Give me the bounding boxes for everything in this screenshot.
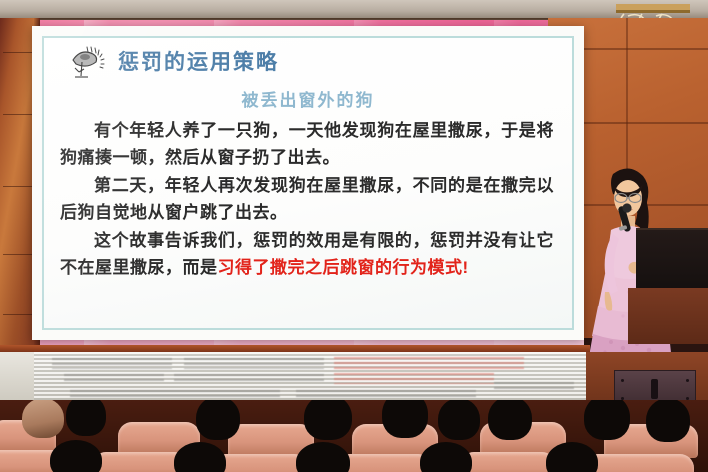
audience-seat: [584, 454, 694, 472]
audience-head: [584, 400, 630, 440]
stage-lip: [0, 345, 590, 352]
slide-title: 惩罚的运用策略: [118, 46, 279, 76]
paragraph-3-run-exclaim: !: [463, 258, 469, 277]
stage-desk: [628, 288, 708, 344]
audience-head: [438, 400, 480, 440]
projection-screen: 惩罚的运用策略 被丢出窗外的狗 有个年轻人养了一只狗，一天他发现狗在屋里撒尿，于…: [32, 26, 584, 340]
slide-header: 惩罚的运用策略: [44, 38, 572, 84]
audience-head: [420, 442, 472, 472]
audience-head: [296, 442, 350, 472]
audience-head: [196, 400, 240, 440]
slide-content: 惩罚的运用策略 被丢出窗外的狗 有个年轻人养了一只狗，一天他发现狗在屋里撒尿，于…: [42, 36, 574, 330]
audience-seat: [336, 454, 432, 472]
audience-head: [304, 400, 352, 440]
slide-paragraph-2: 第二天，年轻人再次发现狗在屋里撒尿，不同的是在撒完以后狗自觉地从窗户跳了出去。: [60, 172, 554, 226]
slide-body: 有个年轻人养了一只狗，一天他发现狗在屋里撒尿，于是将狗痛揍一顿，然后从窗子扔了出…: [44, 117, 572, 281]
audience-head: [646, 400, 690, 442]
slide-paragraph-3: 这个故事告诉我们，惩罚的效用是有限的，惩罚并没有让它不在屋里撒尿，而是习得了撒完…: [60, 227, 554, 281]
audience-area: [0, 400, 708, 472]
audience-head: [382, 400, 428, 438]
podium-dark-panel: [636, 228, 708, 290]
audience-head: [50, 440, 102, 472]
paragraph-3-run-highlight: 习得了撒完之后跳窗的行为模式: [218, 258, 463, 277]
desk-lamp-icon: [66, 44, 108, 84]
audience-head: [546, 442, 598, 472]
presentation-photo-scene: 惩罚的运用策略 被丢出窗外的狗 有个年轻人养了一只狗，一天他发现狗在屋里撒尿，于…: [0, 0, 708, 472]
audience-head: [66, 400, 106, 436]
audience-seat: [212, 454, 308, 472]
slide-paragraph-1: 有个年轻人养了一只狗，一天他发现狗在屋里撒尿，于是将狗痛揍一顿，然后从窗子扔了出…: [60, 117, 554, 171]
audience-head: [22, 400, 64, 438]
slide-subtitle: 被丢出窗外的狗: [44, 86, 572, 111]
audience-head: [488, 400, 532, 440]
audience-head: [174, 442, 226, 472]
audience-seat: [460, 452, 556, 472]
